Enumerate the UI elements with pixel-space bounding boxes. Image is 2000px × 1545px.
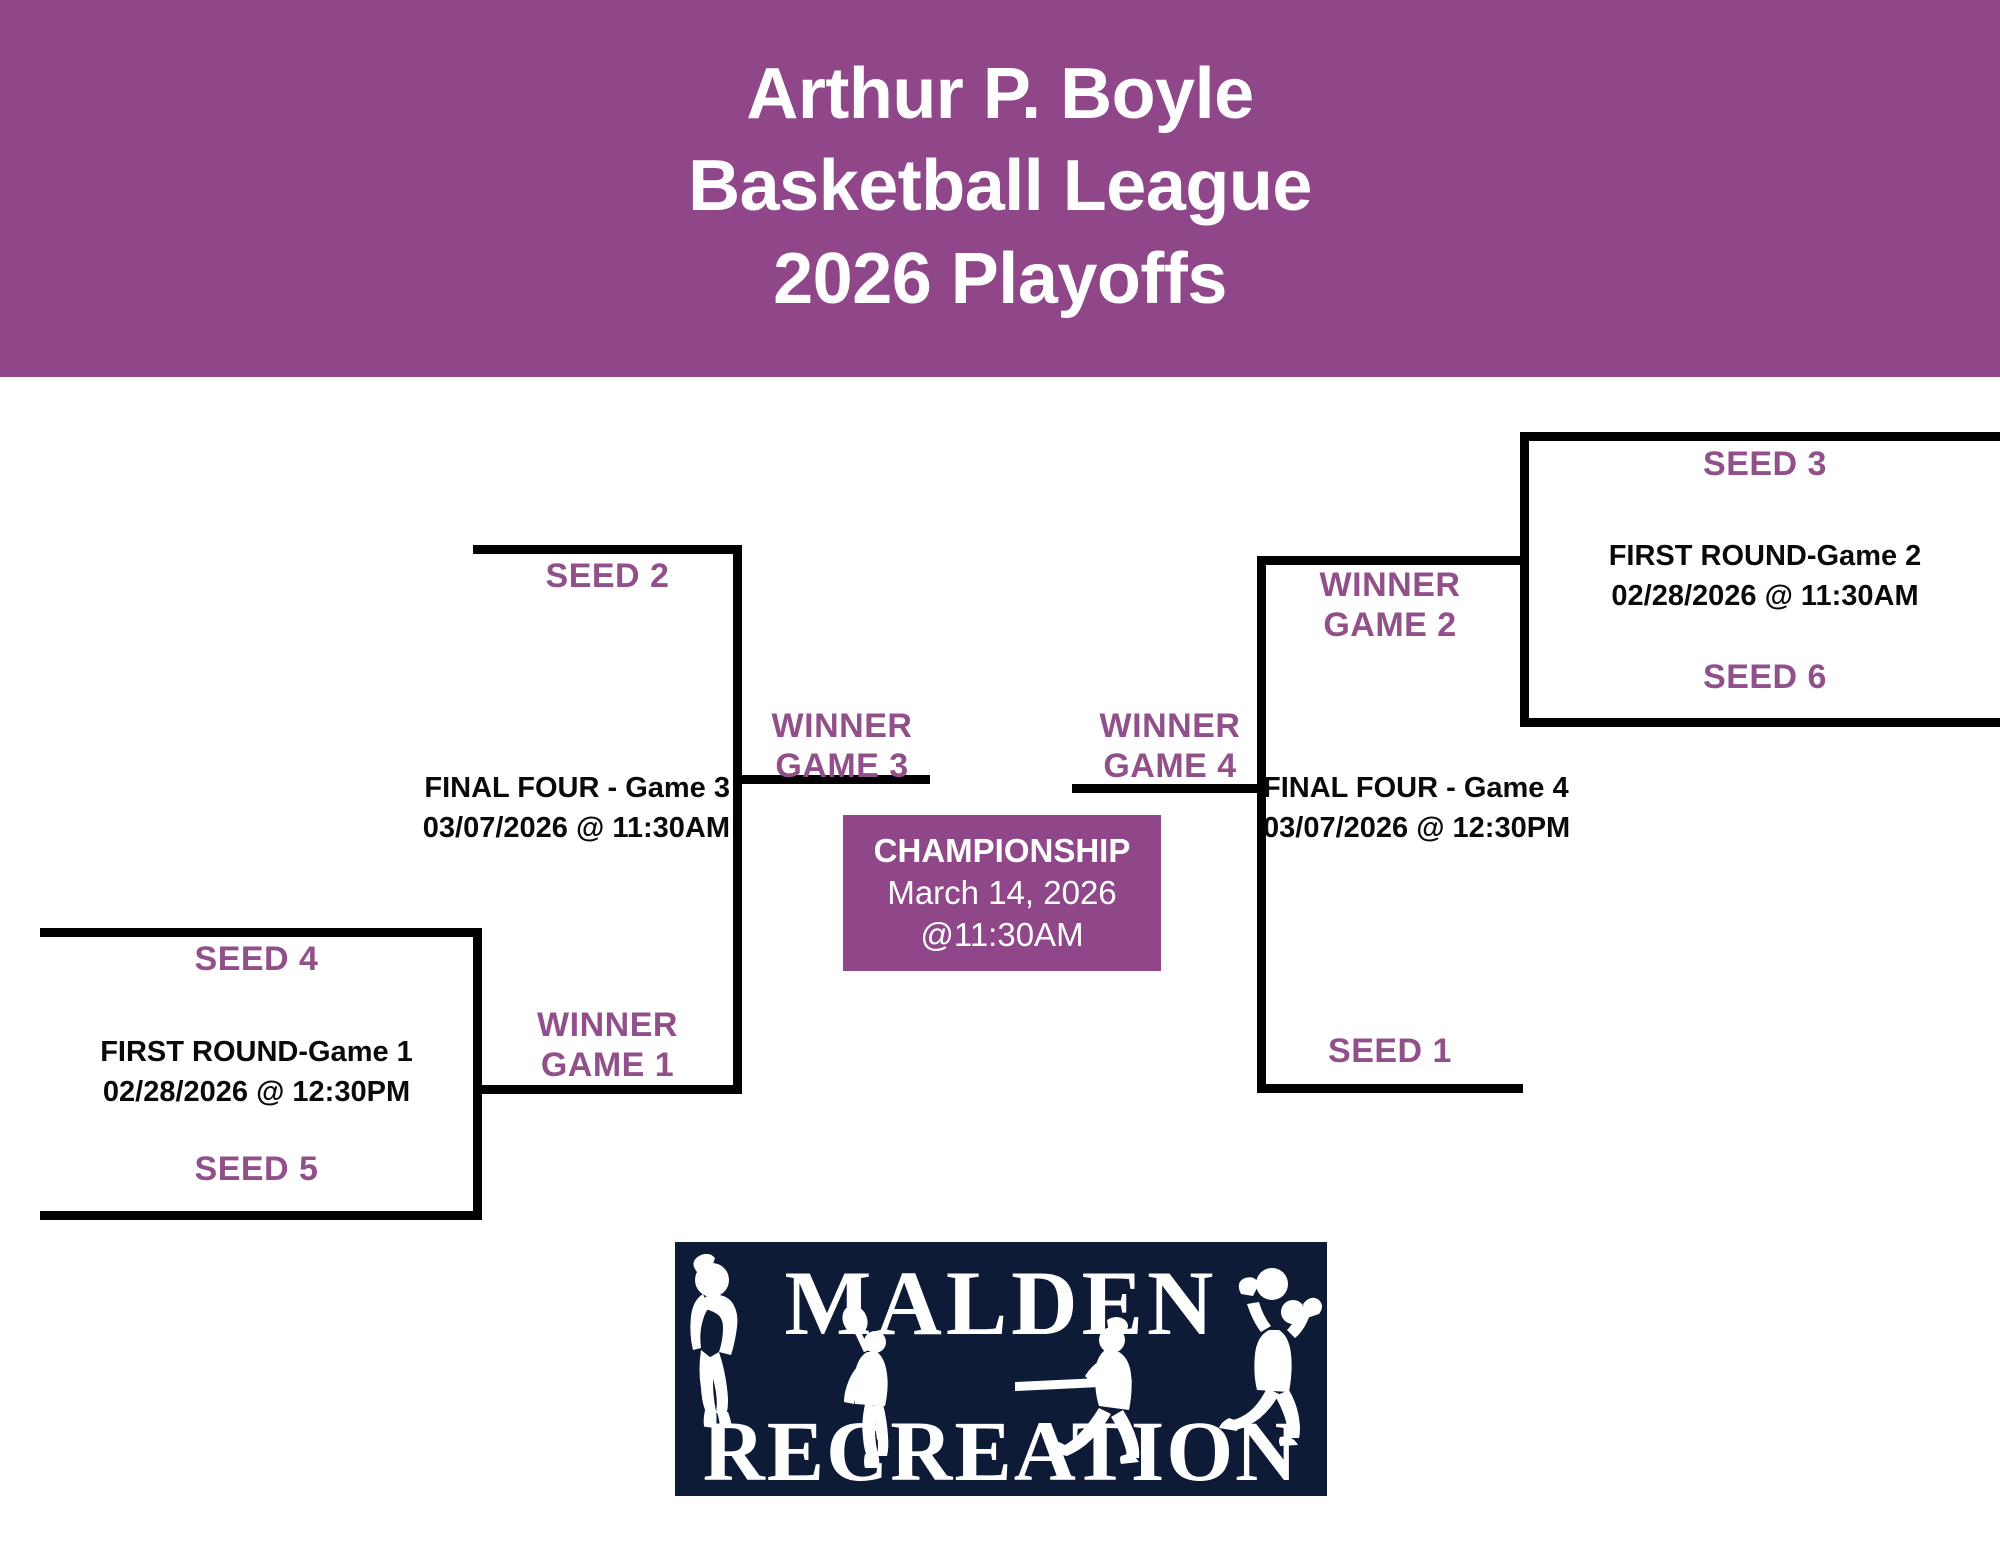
seed-label-6: SEED 6 (1520, 658, 2000, 697)
logo-wordmark-malden: MALDEN (785, 1252, 1218, 1354)
championship-box: CHAMPIONSHIP March 14, 2026 @11:30AM (843, 815, 1161, 971)
first-round-game-2-top-line (1520, 432, 2000, 441)
logo-artwork: MALDEN RECREATION (675, 1242, 1327, 1496)
first-round-game-1-info: FIRST ROUND-Game 1 02/28/2026 @ 12:30PM (40, 1032, 473, 1112)
first-round-game-1-right-line (473, 928, 482, 1220)
first-round-game-1-label: FIRST ROUND-Game 1 (40, 1032, 473, 1072)
seed-label-5: SEED 5 (40, 1150, 473, 1189)
winner-game-1-label: WINNER GAME 1 (473, 1005, 742, 1085)
championship-time: @11:30AM (920, 914, 1083, 956)
first-round-game-2-bottom-line (1520, 718, 2000, 727)
winner-game-4-label: WINNER GAME 4 (1070, 706, 1270, 786)
first-round-game-1-bottom-line (40, 1211, 482, 1220)
winner-game-3-label: WINNER GAME 3 (742, 706, 942, 786)
first-round-game-1-top-line (40, 928, 482, 937)
winner-game-1-feed-line (473, 1085, 742, 1094)
final-four-game-3-label: FINAL FOUR - Game 3 (310, 768, 730, 808)
winner-game-2-label: WINNER GAME 2 (1257, 565, 1523, 645)
winner-game-2-feed-line (1257, 556, 1523, 565)
championship-title: CHAMPIONSHIP (874, 830, 1131, 872)
winner-game-2-line-1: WINNER (1257, 565, 1523, 605)
page-header-banner: Arthur P. Boyle Basketball League 2026 P… (0, 0, 2000, 377)
header-title-line-2: Basketball League (688, 140, 1312, 232)
championship-date: March 14, 2026 (887, 872, 1116, 914)
seed-label-1: SEED 1 (1257, 1032, 1523, 1071)
final-four-game-4-label: FINAL FOUR - Game 4 (1263, 768, 1683, 808)
seed-label-3: SEED 3 (1520, 445, 2000, 484)
seed-label-2: SEED 2 (473, 557, 742, 596)
winner-game-4-line-1: WINNER (1070, 706, 1270, 746)
final-four-game-3-datetime: 03/07/2026 @ 11:30AM (310, 808, 730, 848)
winner-game-4-line-2: GAME 4 (1070, 746, 1270, 786)
seed-2-feed-line (473, 545, 742, 554)
first-round-game-2-info: FIRST ROUND-Game 2 02/28/2026 @ 11:30AM (1520, 536, 2000, 616)
final-four-game-4-datetime: 03/07/2026 @ 12:30PM (1263, 808, 1683, 848)
winner-game-1-line-1: WINNER (473, 1005, 742, 1045)
seed-label-4: SEED 4 (40, 940, 473, 979)
first-round-game-2-label: FIRST ROUND-Game 2 (1520, 536, 2000, 576)
first-round-game-1-datetime: 02/28/2026 @ 12:30PM (40, 1072, 473, 1112)
winner-game-3-line-1: WINNER (742, 706, 942, 746)
winner-game-3-line-2: GAME 3 (742, 746, 942, 786)
header-title-line-3: 2026 Playoffs (773, 233, 1227, 325)
final-four-game-4-info: FINAL FOUR - Game 4 03/07/2026 @ 12:30PM (1263, 768, 1683, 848)
winner-game-1-line-2: GAME 1 (473, 1045, 742, 1085)
winner-game-2-line-2: GAME 2 (1257, 605, 1523, 645)
header-title-line-1: Arthur P. Boyle (746, 48, 1253, 140)
malden-recreation-logo: MALDEN RECREATION (675, 1242, 1327, 1496)
logo-wordmark-recreation: RECREATION (703, 1403, 1300, 1496)
bracket-page: Arthur P. Boyle Basketball League 2026 P… (0, 0, 2000, 1545)
seed-1-feed-line (1257, 1084, 1523, 1093)
final-four-game-3-info: FINAL FOUR - Game 3 03/07/2026 @ 11:30AM (310, 768, 730, 848)
first-round-game-2-datetime: 02/28/2026 @ 11:30AM (1520, 576, 2000, 616)
